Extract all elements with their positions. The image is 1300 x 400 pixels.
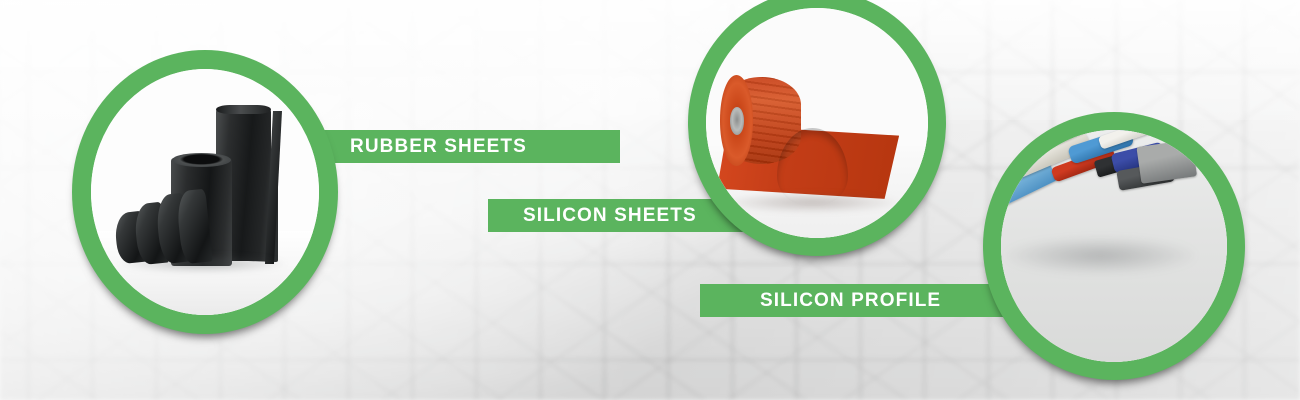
silicone-roll-core bbox=[730, 107, 744, 135]
medallion-plate-rubber-sheets bbox=[91, 69, 319, 315]
rubber-sheets-photo bbox=[91, 69, 319, 315]
silicon-sheets-photo bbox=[706, 8, 928, 238]
label-text-silicon-sheets: SILICON SHEETS bbox=[523, 206, 697, 226]
silicone-profile-bundle bbox=[1001, 130, 1204, 288]
photo-contact-shadow bbox=[724, 192, 902, 213]
label-text-silicon-profile: SILICON PROFILE bbox=[760, 291, 941, 311]
medallion-plate-silicon-sheets bbox=[706, 8, 928, 238]
medallion-silicon-sheets[interactable] bbox=[688, 0, 946, 256]
silicon-profile-photo bbox=[1001, 130, 1227, 362]
product-banner-stage: RUBBER SHEETS SILICON SHEETS SILICON PRO… bbox=[0, 0, 1300, 400]
medallion-silicon-profile[interactable] bbox=[983, 112, 1245, 380]
label-text-rubber-sheets: RUBBER SHEETS bbox=[350, 137, 527, 157]
medallion-rubber-sheets[interactable] bbox=[72, 50, 338, 334]
rubber-folded-sheet bbox=[116, 194, 216, 263]
medallion-plate-silicon-profile bbox=[1001, 130, 1227, 362]
profile-strip-grey-finned bbox=[1137, 140, 1198, 184]
label-banner-silicon-profile[interactable]: SILICON PROFILE bbox=[700, 284, 1030, 317]
